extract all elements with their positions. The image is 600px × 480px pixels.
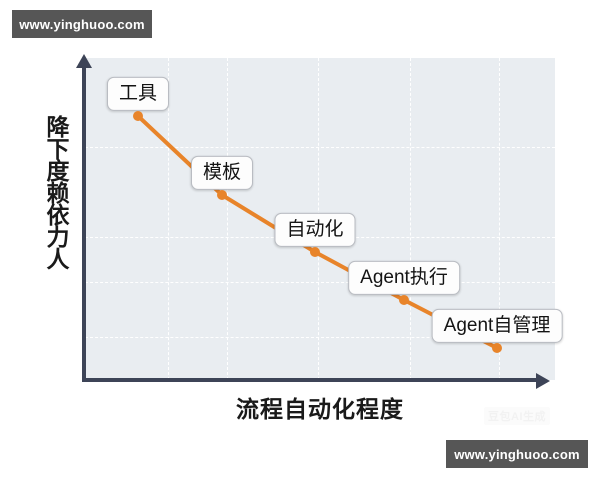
y-axis-arrow-icon — [76, 54, 92, 68]
data-point-marker-2 — [310, 247, 320, 257]
gridline-vertical-3 — [410, 58, 411, 380]
x-axis-line — [82, 378, 538, 382]
data-point-marker-0 — [133, 111, 143, 121]
gridline-horizontal-2 — [85, 282, 555, 283]
data-point-label-4: Agent自管理 — [432, 309, 563, 343]
y-axis-title-char-5: 力 — [36, 226, 80, 248]
data-point-marker-4 — [492, 343, 502, 353]
y-axis-title-char-6: 人 — [36, 248, 80, 270]
data-point-marker-1 — [217, 190, 227, 200]
data-point-label-0: 工具 — [107, 77, 169, 111]
x-axis-title: 流程自动化程度 — [210, 390, 430, 424]
x-axis-arrow-icon — [536, 373, 550, 389]
data-point-label-3: Agent执行 — [348, 261, 460, 295]
y-axis-title-char-3: 赖 — [36, 182, 80, 204]
y-axis-title-char-0: 降 — [36, 116, 80, 138]
y-axis-line — [82, 66, 86, 382]
chart-page: www.yinghuoo.com 降下度赖依力人 流程自动化程度 工具模板自动化… — [0, 0, 600, 480]
y-axis-title-char-2: 度 — [36, 160, 80, 182]
y-axis-title-char-1: 下 — [36, 138, 80, 160]
data-point-label-2: 自动化 — [274, 213, 355, 247]
data-point-marker-3 — [399, 295, 409, 305]
watermark-bottom-right: www.yinghuoo.com — [446, 440, 588, 468]
gridline-vertical-1 — [227, 58, 228, 380]
y-axis-title-char-4: 依 — [36, 204, 80, 226]
data-point-label-1: 模板 — [191, 156, 253, 190]
gridline-horizontal-0 — [85, 147, 555, 148]
y-axis-title: 降下度赖依力人 — [36, 116, 80, 271]
watermark-ai-generated: 豆包AI生成 — [484, 407, 550, 425]
